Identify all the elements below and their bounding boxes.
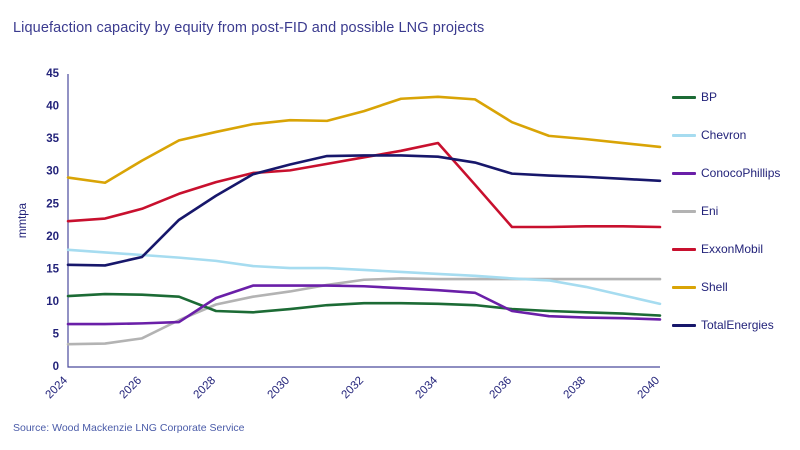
legend-color-swatch-icon: [672, 248, 696, 251]
x-axis-tick-label: 2036: [488, 375, 515, 402]
y-axis-tick-label: 35: [46, 133, 59, 145]
legend-item[interactable]: ExxonMobil: [672, 230, 798, 268]
legend-item-label: ConocoPhillips: [701, 166, 780, 180]
series-line-bp: [68, 294, 660, 315]
legend-color-swatch-icon: [672, 286, 696, 289]
legend-color-swatch-icon: [672, 210, 696, 213]
legend-color-swatch-icon: [672, 96, 696, 99]
chart-legend: BPChevronConocoPhillipsEniExxonMobilShel…: [672, 78, 798, 344]
y-axis-tick-label: 20: [46, 231, 59, 243]
y-axis-tick-label: 10: [46, 296, 59, 308]
x-axis-tick-label: 2026: [118, 375, 145, 402]
y-axis-tick-label: 0: [53, 361, 59, 373]
series-line-totalenergies: [68, 155, 660, 265]
legend-item-label: TotalEnergies: [701, 318, 774, 332]
x-axis-tick-label: 2028: [192, 375, 219, 402]
legend-item-label: Shell: [701, 280, 728, 294]
x-axis-tick-label: 2032: [340, 375, 367, 402]
y-axis-tick-label: 40: [46, 101, 59, 113]
legend-item[interactable]: BP: [672, 78, 798, 116]
series-line-shell: [68, 97, 660, 183]
y-axis-tick-label: 15: [46, 263, 59, 275]
x-axis-tick-label: 2038: [562, 375, 589, 402]
y-axis-tick-label: 30: [46, 166, 59, 178]
legend-item-label: Chevron: [701, 128, 746, 142]
y-axis-tick-label: 5: [53, 328, 60, 340]
y-axis-tick-label: 25: [46, 198, 59, 210]
legend-item-label: ExxonMobil: [701, 242, 763, 256]
legend-item[interactable]: Eni: [672, 192, 798, 230]
series-line-conocophillips: [68, 286, 660, 324]
legend-item[interactable]: Chevron: [672, 116, 798, 154]
y-axis-title: mmtpa: [17, 202, 29, 238]
y-axis-tick-label: 45: [46, 68, 59, 80]
x-axis-tick-label: 2040: [636, 375, 663, 402]
legend-item-label: Eni: [701, 204, 718, 218]
x-axis-tick-label: 2030: [266, 375, 293, 402]
legend-color-swatch-icon: [672, 134, 696, 137]
legend-color-swatch-icon: [672, 172, 696, 175]
source-note: Source: Wood Mackenzie LNG Corporate Ser…: [13, 422, 245, 434]
x-axis-tick-label: 2024: [44, 374, 71, 401]
legend-item[interactable]: Shell: [672, 268, 798, 306]
legend-item-label: BP: [701, 90, 717, 104]
legend-item[interactable]: TotalEnergies: [672, 306, 798, 344]
legend-item[interactable]: ConocoPhillips: [672, 154, 798, 192]
x-axis-tick-label: 2034: [414, 374, 441, 401]
legend-color-swatch-icon: [672, 324, 696, 327]
